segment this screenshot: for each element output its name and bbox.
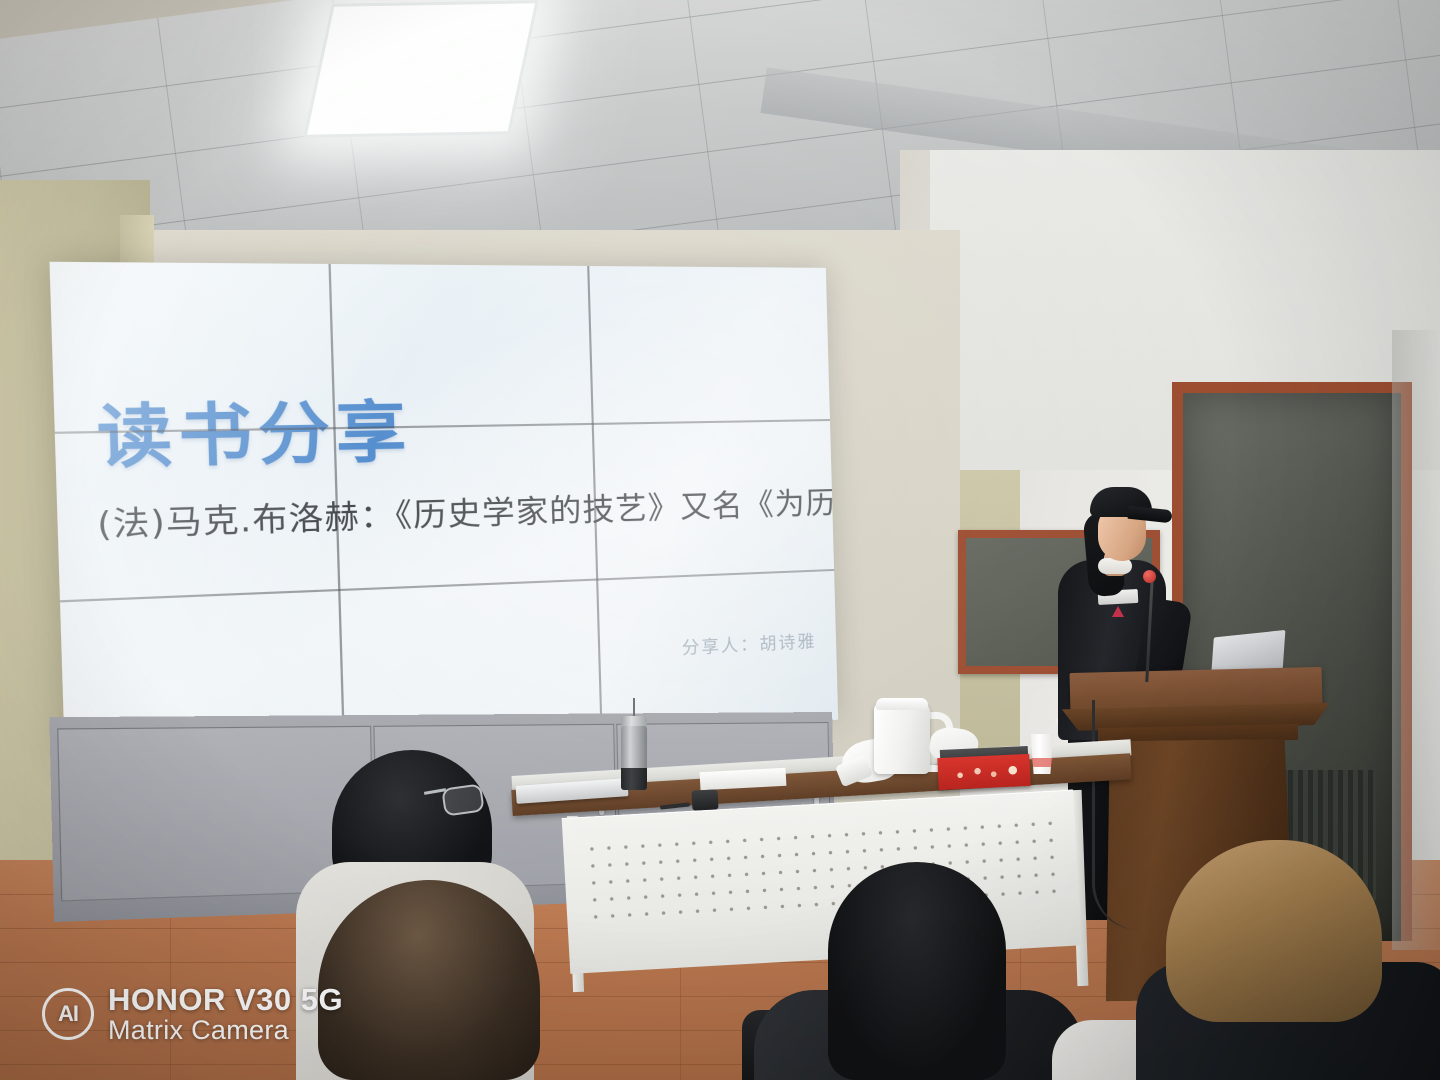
video-wall-screen[interactable]: 读书分享 (法)马克.布洛赫：《历史学家的技艺》又名《为历史学辩护》 分享人：胡… <box>49 262 838 770</box>
watermark-line2: Matrix Camera <box>108 1016 343 1044</box>
camera-watermark: AI HONOR V30 5G Matrix Camera <box>42 984 343 1044</box>
screen-panel-seam <box>60 569 834 603</box>
attendee-head-center <box>828 862 1006 1080</box>
slide-subtitle-prefix: (法)马克.布洛赫：《历史学家的技艺》又名《为历史学 <box>97 484 839 545</box>
photo-scene: 读书分享 (法)马克.布洛赫：《历史学家的技艺》又名《为历史学辩护》 分享人：胡… <box>0 0 1440 1080</box>
slide-credit: 分享人：胡诗雅 <box>681 627 816 659</box>
small-black-case[interactable] <box>691 789 718 810</box>
kettle-lid[interactable] <box>876 698 928 710</box>
ceiling-light-panel <box>303 0 538 138</box>
wall-corner-shadow <box>1392 330 1440 950</box>
paper-cup-band <box>1030 758 1054 767</box>
slide-subtitle: (法)马克.布洛赫：《历史学家的技艺》又名《为历史学辩护》 <box>96 478 825 546</box>
thermos-base <box>621 768 647 790</box>
podium-cable <box>1092 700 1139 930</box>
electric-kettle[interactable] <box>874 702 930 774</box>
thermos-antenna <box>633 698 635 718</box>
red-box-print <box>944 759 1025 785</box>
red-printed-box[interactable] <box>937 754 1030 790</box>
microphone-head-icon <box>1143 570 1156 583</box>
ai-circle-logo-icon: AI <box>42 988 94 1040</box>
watermark-line1: HONOR V30 5G <box>108 984 343 1016</box>
